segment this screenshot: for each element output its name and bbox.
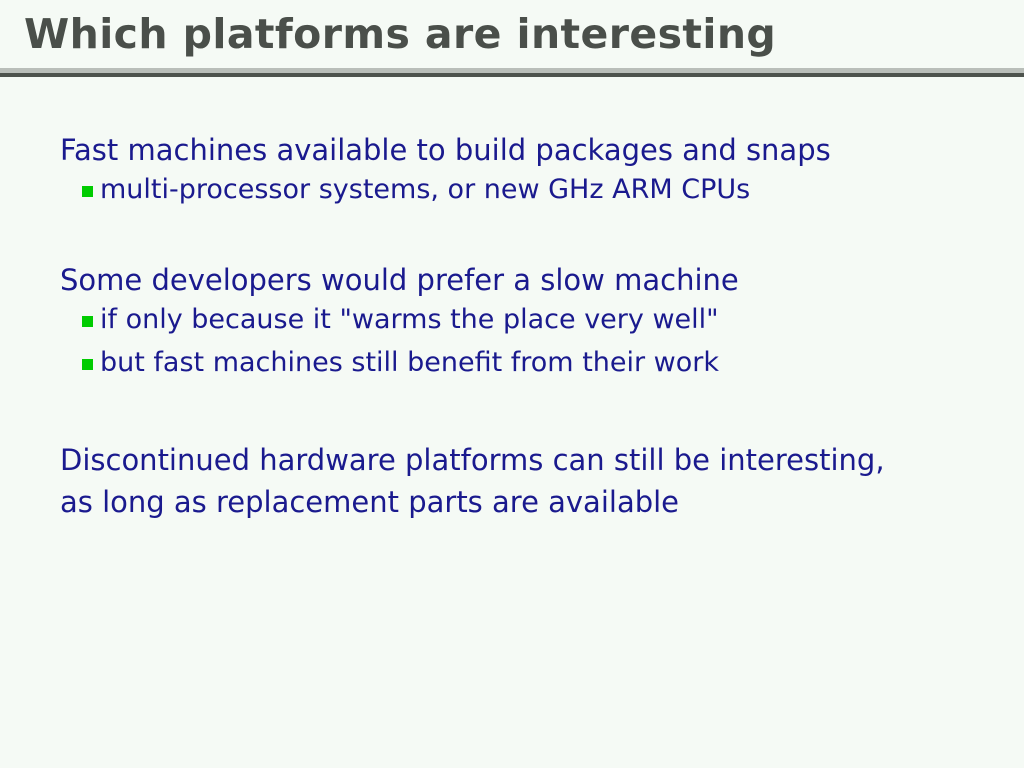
list-item-label: multi-processor systems, or new GHz ARM …	[100, 169, 750, 211]
title-divider	[0, 68, 1024, 77]
square-bullet-icon	[82, 186, 93, 197]
list-item: but fast machines still benefit from the…	[82, 342, 719, 384]
square-bullet-icon	[82, 316, 93, 327]
page-title: Which platforms are interesting	[24, 11, 776, 58]
title-area: Which platforms are interesting	[0, 0, 1024, 68]
list-item: if only because it "warms the place very…	[82, 299, 719, 341]
list-item-label: if only because it "warms the place very…	[100, 299, 719, 341]
list-item: multi-processor systems, or new GHz ARM …	[82, 169, 750, 211]
list-item-label: but fast machines still benefit from the…	[100, 342, 719, 384]
slide-body: Fast machines available to build package…	[0, 77, 1024, 768]
slide: Which platforms are interesting Fast mac…	[0, 0, 1024, 768]
block-heading: Fast machines available to build package…	[60, 129, 831, 171]
block-heading: Discontinued hardware platforms can stil…	[60, 439, 885, 481]
block-heading: Some developers would prefer a slow mach…	[60, 259, 739, 301]
square-bullet-icon	[82, 359, 93, 370]
block-heading-continuation: as long as replacement parts are availab…	[60, 481, 679, 523]
